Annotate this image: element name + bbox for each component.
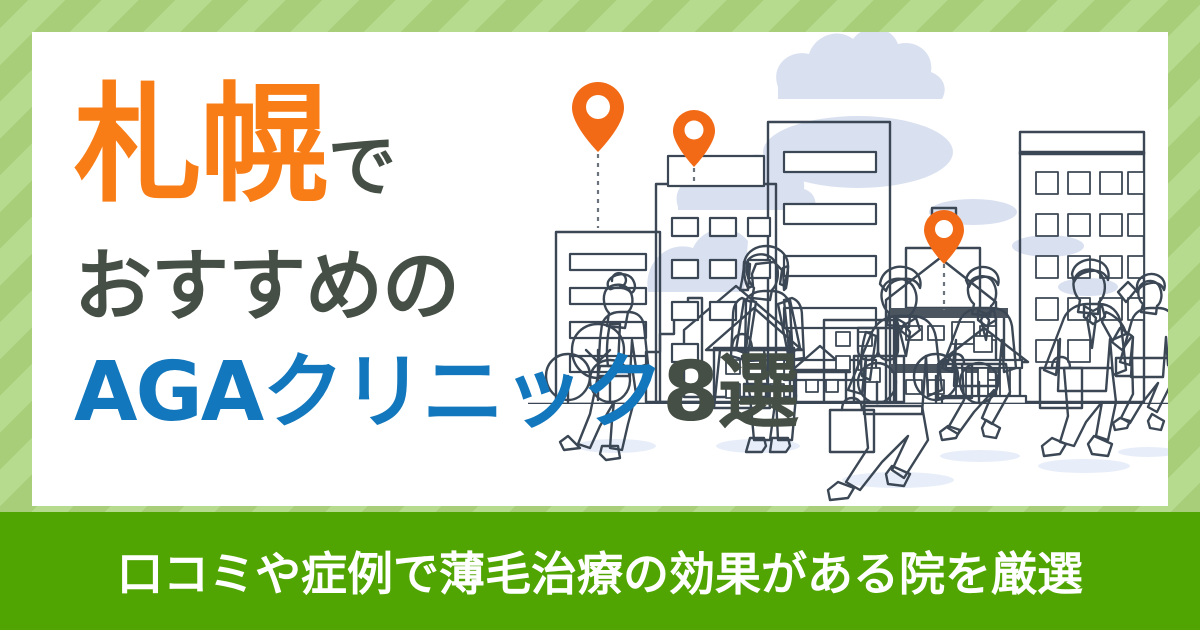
headline-city: 札幌 <box>74 82 326 210</box>
headline-recommend: おすすめの <box>74 248 459 326</box>
headline-count: 8選 <box>662 352 797 434</box>
headline-line-2: おすすめの <box>74 248 634 326</box>
headline-line-3: AGAクリニック 8選 <box>74 352 634 434</box>
poster-canvas: .o{fill:none;stroke:#3b4754;stroke-width… <box>0 0 1200 630</box>
headline-brand: AGAクリニック <box>74 352 662 434</box>
banner-text: 口コミや症例で薄毛治療の効果がある院を厳選 <box>117 538 1083 604</box>
headline-block: 札幌 で おすすめの AGAクリニック 8選 <box>74 48 634 434</box>
headline-line-1: 札幌 で <box>74 82 634 210</box>
content-card: .o{fill:none;stroke:#3b4754;stroke-width… <box>32 32 1168 506</box>
headline-particle: で <box>328 134 396 210</box>
bottom-banner: 口コミや症例で薄毛治療の効果がある院を厳選 <box>0 512 1200 630</box>
